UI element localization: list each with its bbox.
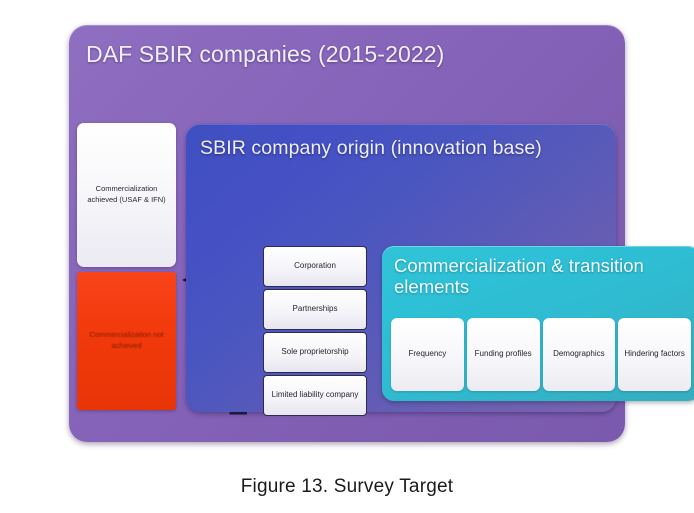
teal-panel-title: Commercialization & transition elements [394,255,694,298]
figure-caption: Figure 13. Survey Target [0,476,694,498]
element-hindering-factors[interactable]: Hindering factors [618,318,691,391]
commercialization-transition-elements-panel: Commercialization & transition elements … [382,246,694,401]
origin-item-partnerships[interactable]: Partnerships [263,289,367,330]
sbir-company-origin-panel: SBIR company origin (innovation base) Co… [186,124,616,412]
origin-item-corporation[interactable]: Corporation [263,246,367,287]
commercialization-not-achieved-box[interactable]: Commercialization not achieved [77,272,176,410]
commercialization-achieved-box[interactable]: Commercialization achieved (USAF & IFN) [77,123,176,267]
commercialization-not-achieved-label: Commercialization not achieved [82,330,171,352]
commercialization-status-column: Commercialization achieved (USAF & IFN) … [77,123,176,410]
element-frequency[interactable]: Frequency [391,318,464,391]
outer-panel-title: DAF SBIR companies (2015-2022) [86,41,444,68]
blue-panel-title: SBIR company origin (innovation base) [200,137,542,160]
origin-type-list: Corporation Partnerships Sole proprietor… [263,246,367,416]
element-demographics[interactable]: Demographics [543,318,616,391]
origin-item-limited-liability-company[interactable]: Limited liability company [263,375,367,416]
origin-item-sole-proprietorship[interactable]: Sole proprietorship [263,332,367,373]
commercialization-achieved-label: Commercialization achieved (USAF & IFN) [82,184,171,206]
element-funding-profiles[interactable]: Funding profiles [467,318,540,391]
daf-sbir-companies-panel: DAF SBIR companies (2015-2022) Commercia… [69,25,625,442]
element-list: Frequency Funding profiles Demographics … [391,318,691,391]
